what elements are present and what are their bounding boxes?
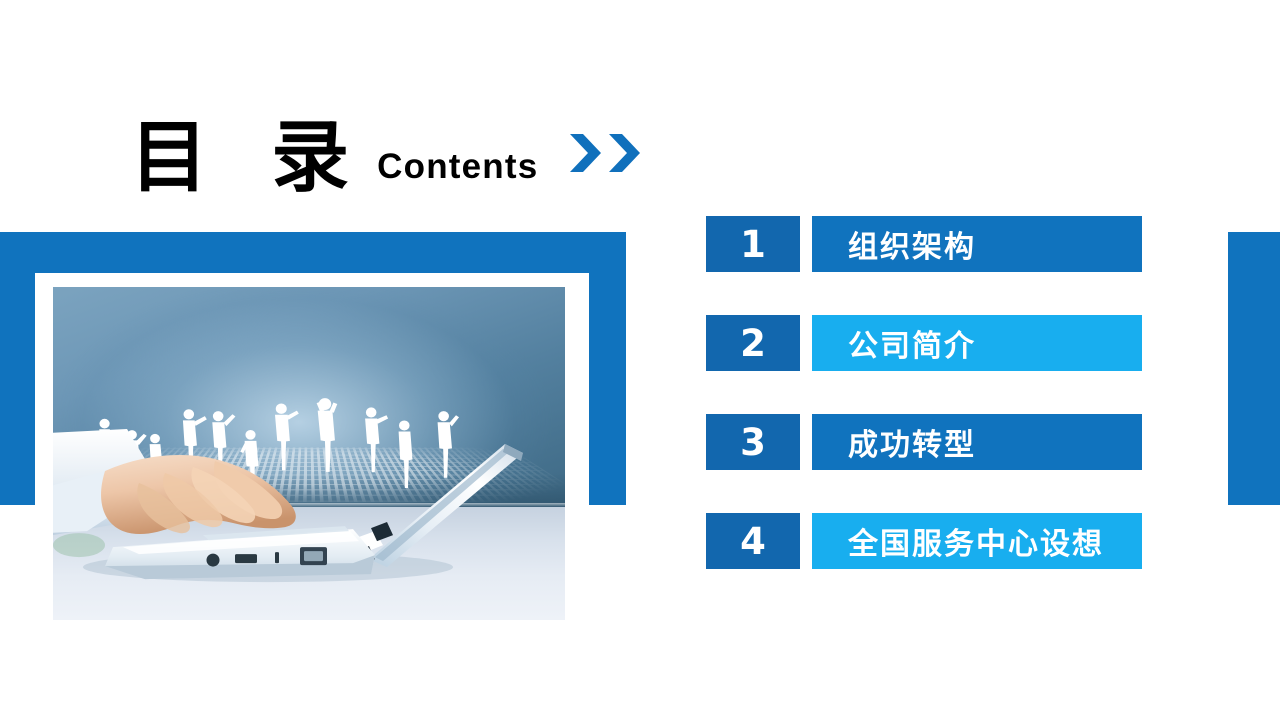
right-decoration-bar: [1228, 232, 1280, 505]
contents-item-4-label: 全国服务中心设想: [812, 513, 1142, 569]
frame-top-bar: [0, 232, 626, 273]
frame-right-edge: [589, 273, 626, 505]
contents-item-3-label: 成功转型: [812, 414, 1142, 470]
page-title-en: Contents: [377, 147, 538, 187]
contents-menu: 1 组织架构 2 公司简介 3 成功转型 4 全国服务中心设想: [706, 216, 1142, 569]
page-title-cn: 目 录: [130, 121, 367, 196]
contents-item-1-number: 1: [706, 216, 800, 272]
contents-item-2[interactable]: 2 公司简介: [706, 315, 1142, 371]
contents-item-2-number: 2: [706, 315, 800, 371]
contents-item-4[interactable]: 4 全国服务中心设想: [706, 513, 1142, 569]
slide-photo: [53, 287, 565, 620]
laptop-and-hand-illustration: [53, 427, 565, 620]
contents-slide: 目 录 Contents: [0, 0, 1280, 720]
contents-item-3[interactable]: 3 成功转型: [706, 414, 1142, 470]
contents-item-4-number: 4: [706, 513, 800, 569]
frame-left-edge: [0, 273, 35, 505]
double-chevron-right-icon: [568, 132, 643, 174]
contents-item-2-label: 公司简介: [812, 315, 1142, 371]
slide-title-group: 目 录 Contents: [130, 104, 643, 196]
contents-item-1[interactable]: 1 组织架构: [706, 216, 1142, 272]
contents-item-1-label: 组织架构: [812, 216, 1142, 272]
contents-item-3-number: 3: [706, 414, 800, 470]
